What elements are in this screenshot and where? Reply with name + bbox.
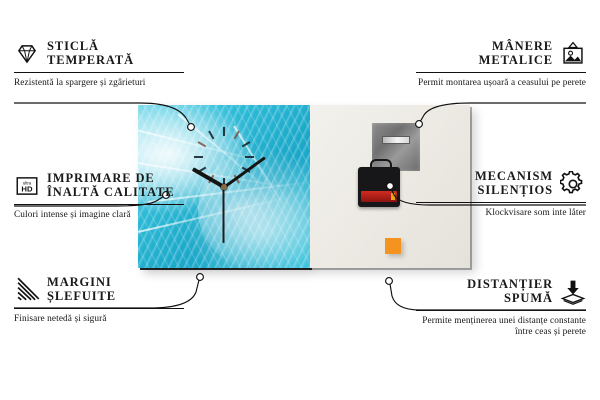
feature-description: Permite menținerea unei distanțe constan… [416, 316, 586, 339]
feature-description: Permit montarea ușoară a ceasului pe per… [416, 78, 586, 89]
divider [416, 310, 586, 311]
hd-label: HD [21, 184, 33, 193]
feature-description: Culori intense și imagine clară [14, 210, 184, 221]
feature-distantier-spuma: DISTANȚIER SPUMĂ Permite menținerea unei… [416, 278, 586, 339]
feature-title: IMPRIMARE DE ÎNALTĂ CALITATE [47, 172, 184, 199]
polished-edges-icon [14, 277, 40, 303]
feature-sticla-temperata: STICLĂ TEMPERATĂ Rezistentă la spargere … [14, 40, 184, 89]
divider [14, 308, 184, 309]
infographic-canvas: STICLĂ TEMPERATĂ Rezistentă la spargere … [0, 0, 600, 400]
feature-margini-slefuite: MARGINI ȘLEFUITE Finisare netedă și sigu… [14, 276, 184, 325]
feature-description: Finisare netedă și sigură [14, 314, 184, 325]
battery [361, 191, 397, 202]
divider [14, 72, 184, 73]
clock-movement [358, 167, 400, 207]
spacer-arrow-icon [560, 279, 586, 305]
divider [416, 202, 586, 203]
divider [14, 204, 184, 205]
battery-terminal [391, 193, 395, 200]
feature-manere-metalice: MÂNERE METALICE Permit montarea ușoară a… [416, 40, 586, 89]
leader-endpoint-distantier [386, 278, 393, 285]
feature-description: Rezistentă la spargere și zgârieturi [14, 78, 184, 89]
feature-title: STICLĂ TEMPERATĂ [47, 40, 184, 67]
feature-title: MÂNERE METALICE [416, 40, 553, 67]
feature-description: Klockvisare som inte låter [416, 208, 586, 219]
picture-hanger-icon [560, 41, 586, 67]
feature-imprimare-calitate: ultra HD IMPRIMARE DE ÎNALTĂ CALITATE Cu… [14, 172, 184, 221]
hanger-slot [382, 136, 410, 144]
feature-mecanism-silentios: MECANISM SILENȚIOS Klockvisare som inte … [416, 170, 586, 219]
feature-title: DISTANȚIER SPUMĂ [416, 278, 553, 305]
feature-title: MARGINI ȘLEFUITE [47, 276, 184, 303]
diamond-icon [14, 41, 40, 67]
movement-hanger-loop [370, 159, 392, 171]
clock-center-cap [221, 184, 227, 190]
feature-title: MECANISM SILENȚIOS [416, 170, 553, 197]
ultra-hd-icon: ultra HD [14, 173, 40, 199]
divider [416, 72, 586, 73]
leader-endpoint-margini [197, 274, 204, 281]
foam-spacer [385, 238, 401, 254]
gear-icon [560, 171, 586, 197]
